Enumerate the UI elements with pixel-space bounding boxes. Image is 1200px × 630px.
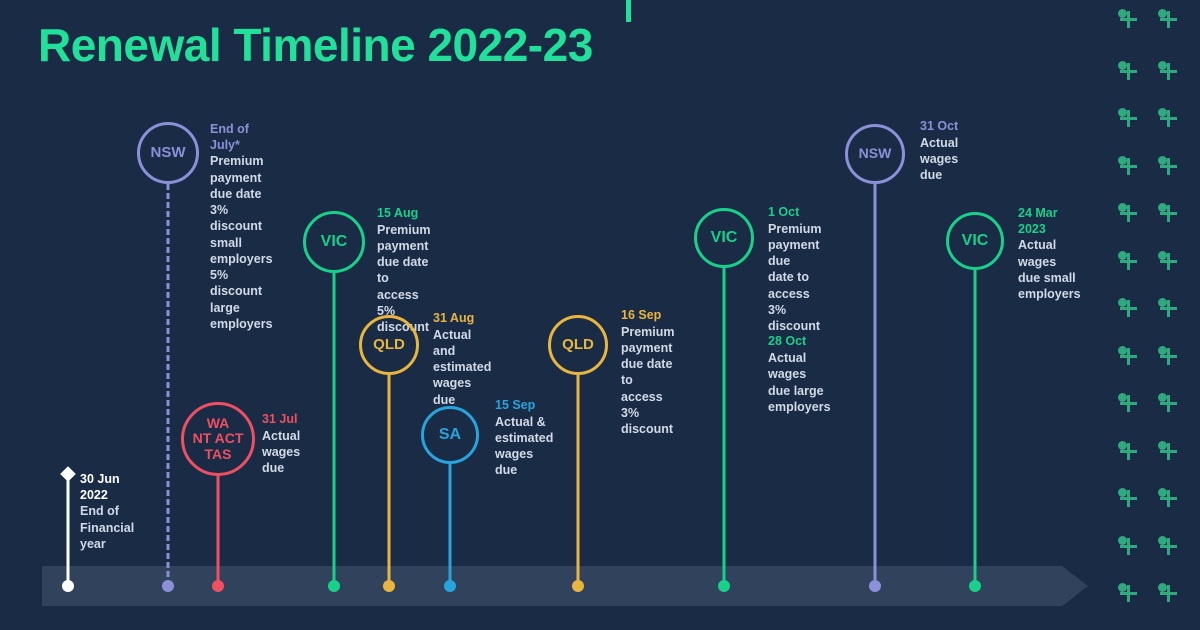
- event-description: Actualwagesdue: [262, 428, 300, 477]
- star-icon: [1160, 11, 1177, 28]
- event-stem: [723, 268, 726, 586]
- star-icon: [1120, 443, 1137, 460]
- event-dot: [572, 580, 584, 592]
- event-date: 28 Oct: [768, 334, 831, 350]
- event-note: 31 JulActualwagesdue: [262, 412, 300, 476]
- star-icon: [1120, 253, 1137, 270]
- event-stem: [217, 476, 220, 586]
- event-description: Actual wagesdue: [920, 135, 958, 184]
- event-note: 15 SepActual &estimatedwages due: [495, 398, 553, 479]
- event-dot: [162, 580, 174, 592]
- star-icon: [1120, 490, 1137, 507]
- state-badge-label: WANT ACTTAS: [193, 416, 244, 461]
- event-date: 15 Sep: [495, 398, 553, 414]
- event-note: 16 SepPremiumpaymentdue date toaccess3% …: [621, 308, 675, 437]
- event-description: Actual wagesdue smallemployers: [1018, 237, 1081, 302]
- event-date: 15 Aug: [377, 206, 431, 222]
- event-description: Actual andestimatedwages due: [433, 327, 491, 408]
- event-note: End of July*Premium payment due date3% d…: [210, 122, 273, 332]
- event-stem: [167, 184, 170, 586]
- event-date: 24 Mar 2023: [1018, 206, 1081, 237]
- state-badge-qld[interactable]: QLD: [548, 315, 608, 375]
- event-date: 31 Jul: [262, 412, 300, 428]
- event-date: 31 Aug: [433, 311, 491, 327]
- event-note: 1 OctPremiumpayment duedate toaccess 3%d…: [768, 205, 831, 415]
- state-badge-label: VIC: [321, 233, 348, 250]
- star-icon: [1120, 63, 1137, 80]
- page-title: Renewal Timeline 2022-23: [38, 18, 593, 72]
- event-dot: [869, 580, 881, 592]
- event-stem: [333, 273, 336, 586]
- event-stem: [874, 184, 877, 586]
- state-badge-qld[interactable]: QLD: [359, 315, 419, 375]
- event-date: End of July*: [210, 122, 273, 153]
- event-dot: [718, 580, 730, 592]
- star-icon: [1160, 395, 1177, 412]
- event-dot: [969, 580, 981, 592]
- event-dot: [328, 580, 340, 592]
- star-icon: [1160, 300, 1177, 317]
- timeline-bar: [42, 566, 1062, 606]
- event-stem: [67, 478, 70, 586]
- star-icon: [1120, 158, 1137, 175]
- state-badge-vic[interactable]: VIC: [694, 208, 754, 268]
- star-icon: [1120, 538, 1137, 555]
- star-icon: [1160, 538, 1177, 555]
- state-badge-label: VIC: [711, 229, 738, 246]
- star-icon: [1120, 395, 1137, 412]
- star-icon: [1120, 110, 1137, 127]
- event-stem: [449, 464, 452, 586]
- event-dot: [62, 580, 74, 592]
- event-dot: [383, 580, 395, 592]
- state-badge-label: NSW: [859, 146, 892, 161]
- event-date: 16 Sep: [621, 308, 675, 324]
- star-icon: [1160, 63, 1177, 80]
- star-icon: [1120, 205, 1137, 222]
- event-description: Premiumpayment duedate toaccess 3%discou…: [768, 221, 831, 335]
- state-badge-label: QLD: [373, 337, 405, 353]
- event-description: Actual wagesdue largeemployers: [768, 350, 831, 415]
- star-icon: [1160, 443, 1177, 460]
- state-badge-nsw[interactable]: NSW: [137, 122, 199, 184]
- state-badge-label: SA: [439, 426, 461, 443]
- event-note: 31 OctActual wagesdue: [920, 119, 958, 183]
- star-icon: [1120, 300, 1137, 317]
- star-icon: [1160, 110, 1177, 127]
- timeline-arrow-head: [1062, 566, 1088, 606]
- event-note: 24 Mar 2023Actual wagesdue smallemployer…: [1018, 206, 1081, 302]
- timeline-infographic: Renewal Timeline 2022-23 30 Jun 2022End …: [0, 0, 1200, 630]
- event-dot: [444, 580, 456, 592]
- event-date: 30 Jun 2022: [80, 472, 134, 503]
- event-date: 1 Oct: [768, 205, 831, 221]
- star-icon: [1120, 348, 1137, 365]
- event-dot: [212, 580, 224, 592]
- star-icon: [1120, 11, 1137, 28]
- state-badge-vic[interactable]: VIC: [946, 212, 1004, 270]
- star-icon: [1160, 205, 1177, 222]
- start-cap-icon: [60, 466, 76, 482]
- state-badge-label: NSW: [151, 145, 186, 161]
- top-tick-decoration: [626, 0, 631, 22]
- state-badge-nsw[interactable]: NSW: [845, 124, 905, 184]
- event-stem: [974, 270, 977, 586]
- event-date: 31 Oct: [920, 119, 958, 135]
- event-stem: [577, 375, 580, 586]
- star-icon: [1160, 158, 1177, 175]
- star-icon: [1160, 585, 1177, 602]
- event-description: End ofFinancialyear: [80, 503, 134, 552]
- event-note: 31 AugActual andestimatedwages due: [433, 311, 491, 408]
- state-badge-label: QLD: [562, 337, 594, 353]
- event-stem: [388, 375, 391, 586]
- state-badge-label: VIC: [962, 232, 989, 249]
- event-description: Premiumpaymentdue date toaccess3% discou…: [621, 324, 675, 438]
- state-badge-sa[interactable]: SA: [421, 406, 479, 464]
- star-icon: [1160, 490, 1177, 507]
- star-icon: [1160, 253, 1177, 270]
- event-description: Actual &estimatedwages due: [495, 414, 553, 479]
- event-note: 30 Jun 2022End ofFinancialyear: [80, 472, 134, 552]
- state-badge-vic[interactable]: VIC: [303, 211, 365, 273]
- event-description: Premium payment due date3% discount smal…: [210, 153, 273, 332]
- star-icon: [1160, 348, 1177, 365]
- star-icon: [1120, 585, 1137, 602]
- state-badge-wa-nt-act-tas[interactable]: WANT ACTTAS: [181, 402, 255, 476]
